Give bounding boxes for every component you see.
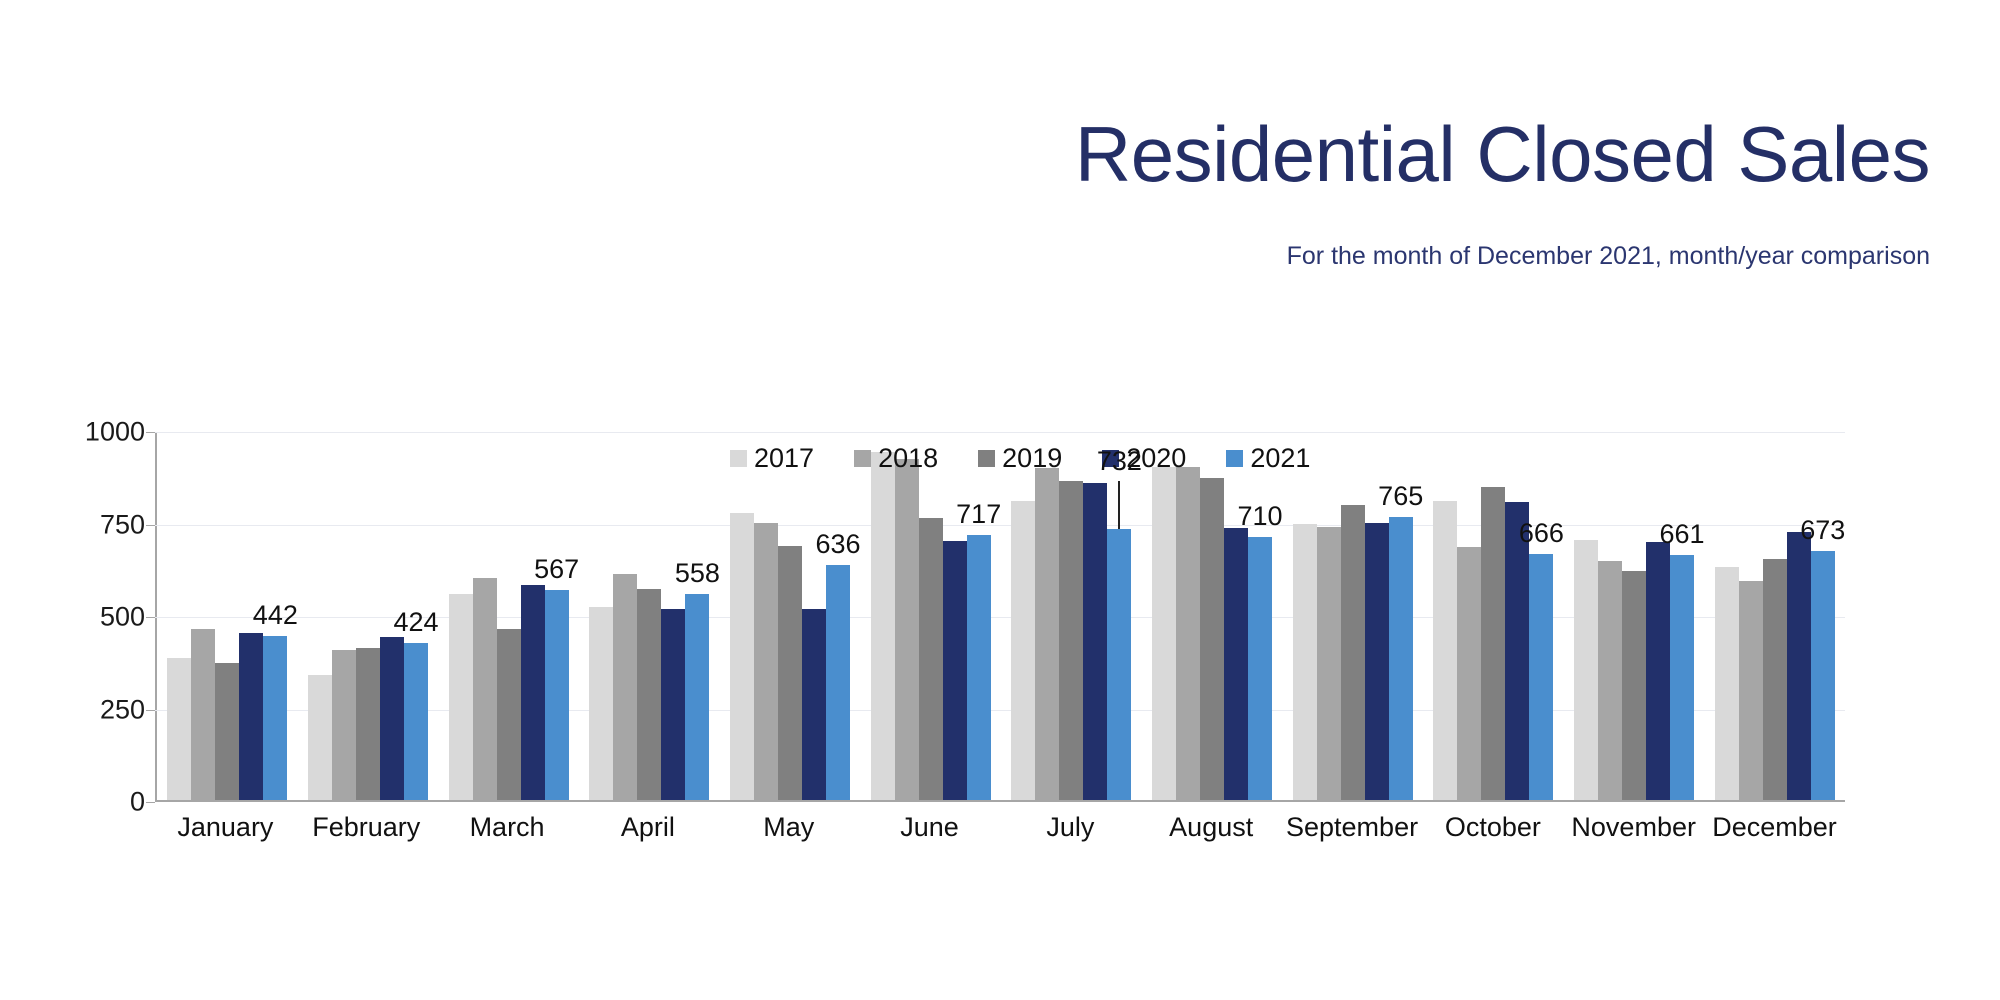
legend-label: 2018 [878,443,938,474]
bar-2020-june[interactable] [943,541,967,800]
y-tick-mark [146,802,155,803]
data-label-march: 567 [534,554,579,585]
y-tick-label: 0 [25,787,145,818]
bar-2019-august[interactable] [1200,478,1224,800]
bar-2021-january[interactable] [263,636,287,800]
bar-2019-may[interactable] [778,546,802,800]
data-label-october: 666 [1519,518,1564,549]
data-label-january: 442 [253,600,298,631]
bar-group-august: 710 [1142,432,1283,800]
bar-2017-may[interactable] [730,513,754,800]
y-tick-label: 500 [25,602,145,633]
y-tick-label: 1000 [25,417,145,448]
bar-2017-january[interactable] [167,658,191,800]
bar-2020-march[interactable] [521,585,545,800]
bar-2018-april[interactable] [613,574,637,800]
bar-2018-july[interactable] [1035,468,1059,800]
x-label-may: May [718,812,859,843]
bar-2021-september[interactable] [1389,517,1413,800]
bar-2018-october[interactable] [1457,547,1481,800]
bar-2017-june[interactable] [871,452,895,800]
legend-item-2021[interactable]: 2021 [1226,443,1310,474]
data-label-november: 661 [1660,519,1705,550]
x-label-september: September [1282,812,1423,843]
bar-2021-may[interactable] [826,565,850,800]
bar-2019-june[interactable] [919,518,943,800]
bar-2021-december[interactable] [1811,551,1835,800]
data-label-april: 558 [675,558,720,589]
bar-2019-july[interactable] [1059,481,1083,800]
bar-2019-march[interactable] [497,629,521,800]
bar-group-july: 732 [1001,432,1142,800]
bar-2020-july[interactable] [1083,483,1107,800]
bars [1564,432,1705,800]
data-label-december: 673 [1800,515,1845,546]
x-label-april: April [577,812,718,843]
page-subtitle: For the month of December 2021, month/ye… [1287,242,1930,271]
legend-item-2017[interactable]: 2017 [730,443,814,474]
data-label-february: 424 [393,607,438,638]
bar-group-june: 717 [860,432,1001,800]
x-axis-line [155,800,1845,802]
bar-2017-september[interactable] [1293,524,1317,800]
bar-2017-april[interactable] [589,607,613,801]
bar-2020-april[interactable] [661,609,685,800]
data-label-august: 710 [1238,501,1283,532]
x-label-august: August [1141,812,1282,843]
bars [1704,432,1845,800]
bar-group-january: 442 [157,432,298,800]
bar-group-april: 558 [579,432,720,800]
bar-2019-september[interactable] [1341,505,1365,800]
bar-2018-may[interactable] [754,523,778,800]
plot-area: 02505007501000 4424245675586367177327107… [155,432,1845,802]
bar-2019-february[interactable] [356,648,380,800]
bar-2021-october[interactable] [1529,554,1553,800]
x-axis-labels: JanuaryFebruaryMarchAprilMayJuneJulyAugu… [155,812,1845,843]
bar-2020-december[interactable] [1787,532,1811,800]
bar-2021-november[interactable] [1670,555,1694,800]
y-tick-mark [146,525,155,526]
bars [720,432,861,800]
page-title: Residential Closed Sales [1075,115,1930,193]
x-label-january: January [155,812,296,843]
legend-swatch-icon [978,450,995,467]
bar-2020-january[interactable] [239,633,263,800]
bar-group-november: 661 [1564,432,1705,800]
x-label-march: March [437,812,578,843]
bar-2021-august[interactable] [1248,537,1272,800]
bar-2021-april[interactable] [685,594,709,800]
legend-item-2019[interactable]: 2019 [978,443,1062,474]
bar-2017-august[interactable] [1152,467,1176,800]
bar-2018-november[interactable] [1598,561,1622,800]
bars [1423,432,1564,800]
bar-2021-july[interactable] [1107,529,1131,800]
chart-page: Residential Closed Sales For the month o… [0,0,2000,1000]
bar-2017-october[interactable] [1433,501,1457,800]
data-label-july: 732 [1097,446,1142,477]
bars [1001,432,1142,800]
bar-2017-july[interactable] [1011,501,1035,800]
bar-group-february: 424 [298,432,439,800]
legend-item-2018[interactable]: 2018 [854,443,938,474]
bars [438,432,579,800]
bar-2019-october[interactable] [1481,487,1505,800]
x-label-july: July [1000,812,1141,843]
data-label-june: 717 [956,499,1001,530]
bar-groups: 442424567558636717732710765666661673 [157,432,1845,800]
legend-label: 2017 [754,443,814,474]
legend-swatch-icon [1226,450,1243,467]
x-label-december: December [1704,812,1845,843]
bar-2019-november[interactable] [1622,571,1646,800]
legend-swatch-icon [854,450,871,467]
y-tick-mark [146,617,155,618]
bar-2017-february[interactable] [308,675,332,800]
bar-group-december: 673 [1704,432,1845,800]
bar-group-october: 666 [1423,432,1564,800]
legend-label: 2019 [1002,443,1062,474]
bar-group-september: 765 [1282,432,1423,800]
bars [860,432,1001,800]
data-label-may: 636 [815,529,860,560]
bar-2018-february[interactable] [332,650,356,800]
bar-2018-december[interactable] [1739,581,1763,800]
y-tick-mark [146,710,155,711]
bar-2018-january[interactable] [191,629,215,800]
chart-legend: 20172018201920202021 [730,443,1310,474]
bars [1142,432,1283,800]
bar-2020-november[interactable] [1646,542,1670,800]
legend-swatch-icon [730,450,747,467]
bar-2017-march[interactable] [449,594,473,800]
data-label-september: 765 [1378,481,1423,512]
bars [579,432,720,800]
leader-line-july [1118,481,1120,529]
bar-2020-may[interactable] [802,609,826,800]
bar-group-march: 567 [438,432,579,800]
bar-2017-december[interactable] [1715,567,1739,800]
bar-2019-december[interactable] [1763,559,1787,800]
bar-2018-june[interactable] [895,459,919,800]
bar-2020-september[interactable] [1365,523,1389,800]
y-tick-label: 750 [25,509,145,540]
bar-2019-april[interactable] [637,589,661,800]
x-label-october: October [1422,812,1563,843]
bar-2018-august[interactable] [1176,467,1200,800]
x-label-june: June [859,812,1000,843]
bar-2019-january[interactable] [215,663,239,800]
x-label-february: February [296,812,437,843]
bar-2017-november[interactable] [1574,540,1598,800]
bar-2020-august[interactable] [1224,528,1248,800]
bar-2021-february[interactable] [404,643,428,800]
bar-2020-february[interactable] [380,637,404,800]
x-label-november: November [1563,812,1704,843]
bar-2021-june[interactable] [967,535,991,800]
y-tick-mark [146,432,155,433]
legend-label: 2021 [1250,443,1310,474]
bar-2018-september[interactable] [1317,527,1341,800]
bar-2018-march[interactable] [473,578,497,800]
y-tick-label: 250 [25,694,145,725]
bar-group-may: 636 [720,432,861,800]
bar-2021-march[interactable] [545,590,569,800]
